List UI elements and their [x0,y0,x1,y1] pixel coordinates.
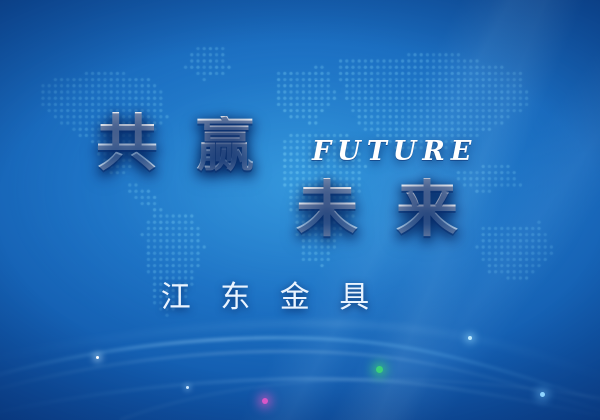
brand-name-text: 江 东 金 具 [161,272,380,316]
headline-char-4: 来 [396,178,460,240]
brand-name: 江 东 金 具 [0,272,600,316]
headline-char-3: 未 [296,178,360,240]
headline-char-1: 共 [96,112,160,174]
banner-image: 共 赢 未 来 FUTURE 江 东 金 具 [0,0,600,420]
headline-char-2: 赢 [196,116,256,174]
future-word: FUTURE [312,136,477,167]
headline-group: 共 赢 未 来 [0,112,600,184]
